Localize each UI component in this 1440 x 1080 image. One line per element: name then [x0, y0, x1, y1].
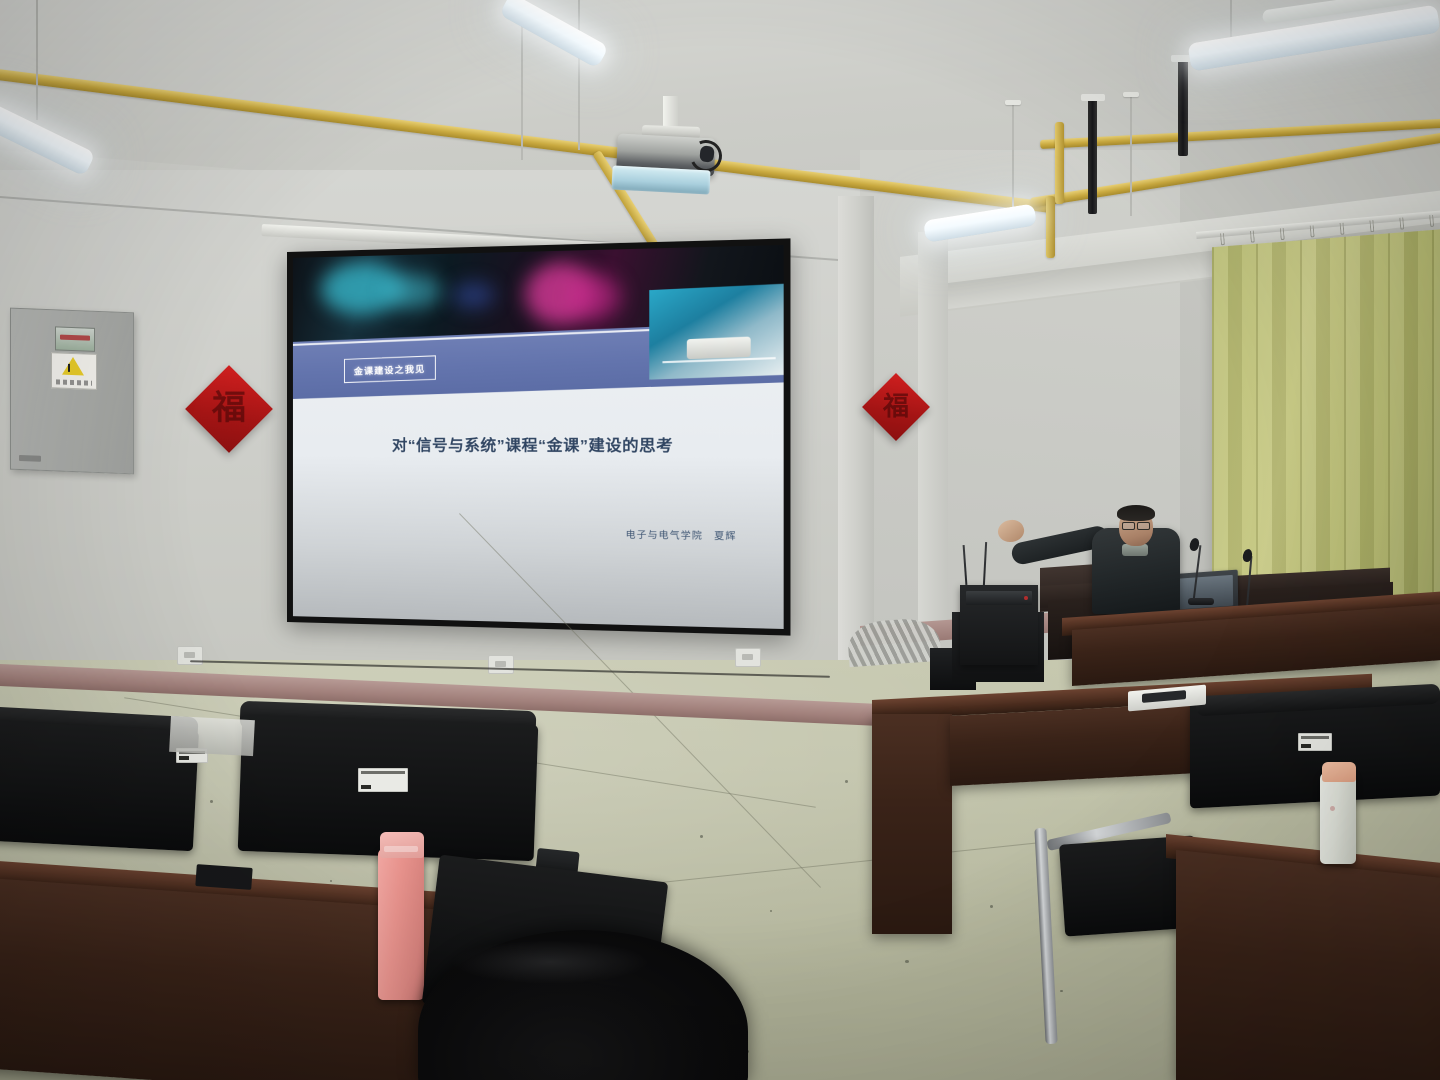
cabinet-hinge-top: [121, 327, 126, 332]
wall-outlet-3[interactable]: [735, 648, 761, 667]
wall-column-left: [838, 196, 874, 666]
inset-object: [686, 336, 750, 359]
slide-title: 对“信号与系统”课程“金课”建设的思考: [293, 434, 784, 457]
lecture-hall-photo: 金课建设之我见 对“信号与系统”课程“金课”建设的思考 电子与电气学院 夏辉: [0, 0, 1440, 1080]
presentation-slide: 金课建设之我见 对“信号与系统”课程“金课”建设的思考 电子与电气学院 夏辉: [293, 245, 784, 629]
black-conduit-1: [1178, 60, 1188, 156]
slide-credit: 电子与电气学院 夏辉: [626, 527, 737, 542]
inset-rule: [663, 357, 776, 363]
light-hanger-rod-1: [1130, 96, 1132, 216]
photo-light-magenta-2: [569, 275, 621, 320]
fu-character-right: 福: [872, 383, 920, 431]
wall-outlet-2[interactable]: [488, 655, 514, 674]
bottle-left-clip: [384, 846, 418, 852]
photo-light-teal-2: [386, 273, 442, 309]
high-voltage-warning-icon: [62, 357, 84, 376]
wall-column-right: [918, 232, 948, 632]
cabinet-warning-sign: [51, 352, 97, 390]
cabinet-meter-window: [55, 326, 95, 352]
projection-screen[interactable]: 金课建设之我见 对“信号与系统”课程“金课”建设的思考 电子与电气学院 夏辉: [287, 238, 790, 635]
gas-pipe-riser: [1055, 122, 1064, 204]
chair-gap-panel: [169, 716, 255, 756]
conduit-cap-2: [1081, 94, 1105, 101]
banner-label-text: 金课建设之我见: [354, 364, 426, 377]
microphone-base-1: [1188, 598, 1214, 605]
photo-light-blue: [452, 281, 494, 309]
screen-surface: 金课建设之我见 对“信号与系统”课程“金课”建设的思考 电子与电气学院 夏辉: [293, 245, 784, 629]
chair-right-tag: [1298, 733, 1332, 751]
bottle-right-pattern: [1330, 806, 1335, 811]
black-conduit-2: [1088, 98, 1097, 214]
bottle-left-cap: [380, 832, 424, 858]
electrical-cabinet[interactable]: [10, 308, 134, 475]
projector-lens: [611, 165, 710, 194]
desk-right-front: [1176, 850, 1440, 1080]
bottle-right-cap: [1322, 762, 1356, 782]
light-hanger-rod-4: [578, 0, 580, 150]
av-equipment-rack[interactable]: [960, 585, 1038, 665]
warning-sign-text: [56, 379, 92, 385]
desk-right-mid-leg: [872, 714, 952, 934]
gas-pipe-elbow: [1046, 196, 1055, 258]
banner-label-box: 金课建设之我见: [344, 356, 436, 384]
light-hanger-rod-5: [36, 0, 38, 120]
bottle-left[interactable]: [378, 848, 424, 1000]
banner-photo-inset: [649, 283, 783, 380]
hanger-cap-1: [1123, 92, 1139, 97]
item-on-left-desk[interactable]: [195, 864, 252, 890]
spring-festival-diamond-right: 福: [862, 373, 930, 441]
spring-festival-diamond-left: 福: [185, 365, 273, 453]
bottle-right[interactable]: [1320, 772, 1356, 864]
fu-character-left: 福: [198, 378, 260, 440]
cabinet-logo: [19, 455, 41, 462]
chair-left-tag-2: [358, 768, 408, 792]
light-hanger-rod-2: [1012, 104, 1014, 222]
presenter-glasses: [1122, 522, 1150, 528]
light-hanger-rod-6: [1230, 0, 1232, 38]
presenter-hair: [1117, 505, 1155, 521]
cabinet-hinge-bottom: [121, 433, 126, 438]
hanger-cap-2: [1005, 100, 1021, 105]
